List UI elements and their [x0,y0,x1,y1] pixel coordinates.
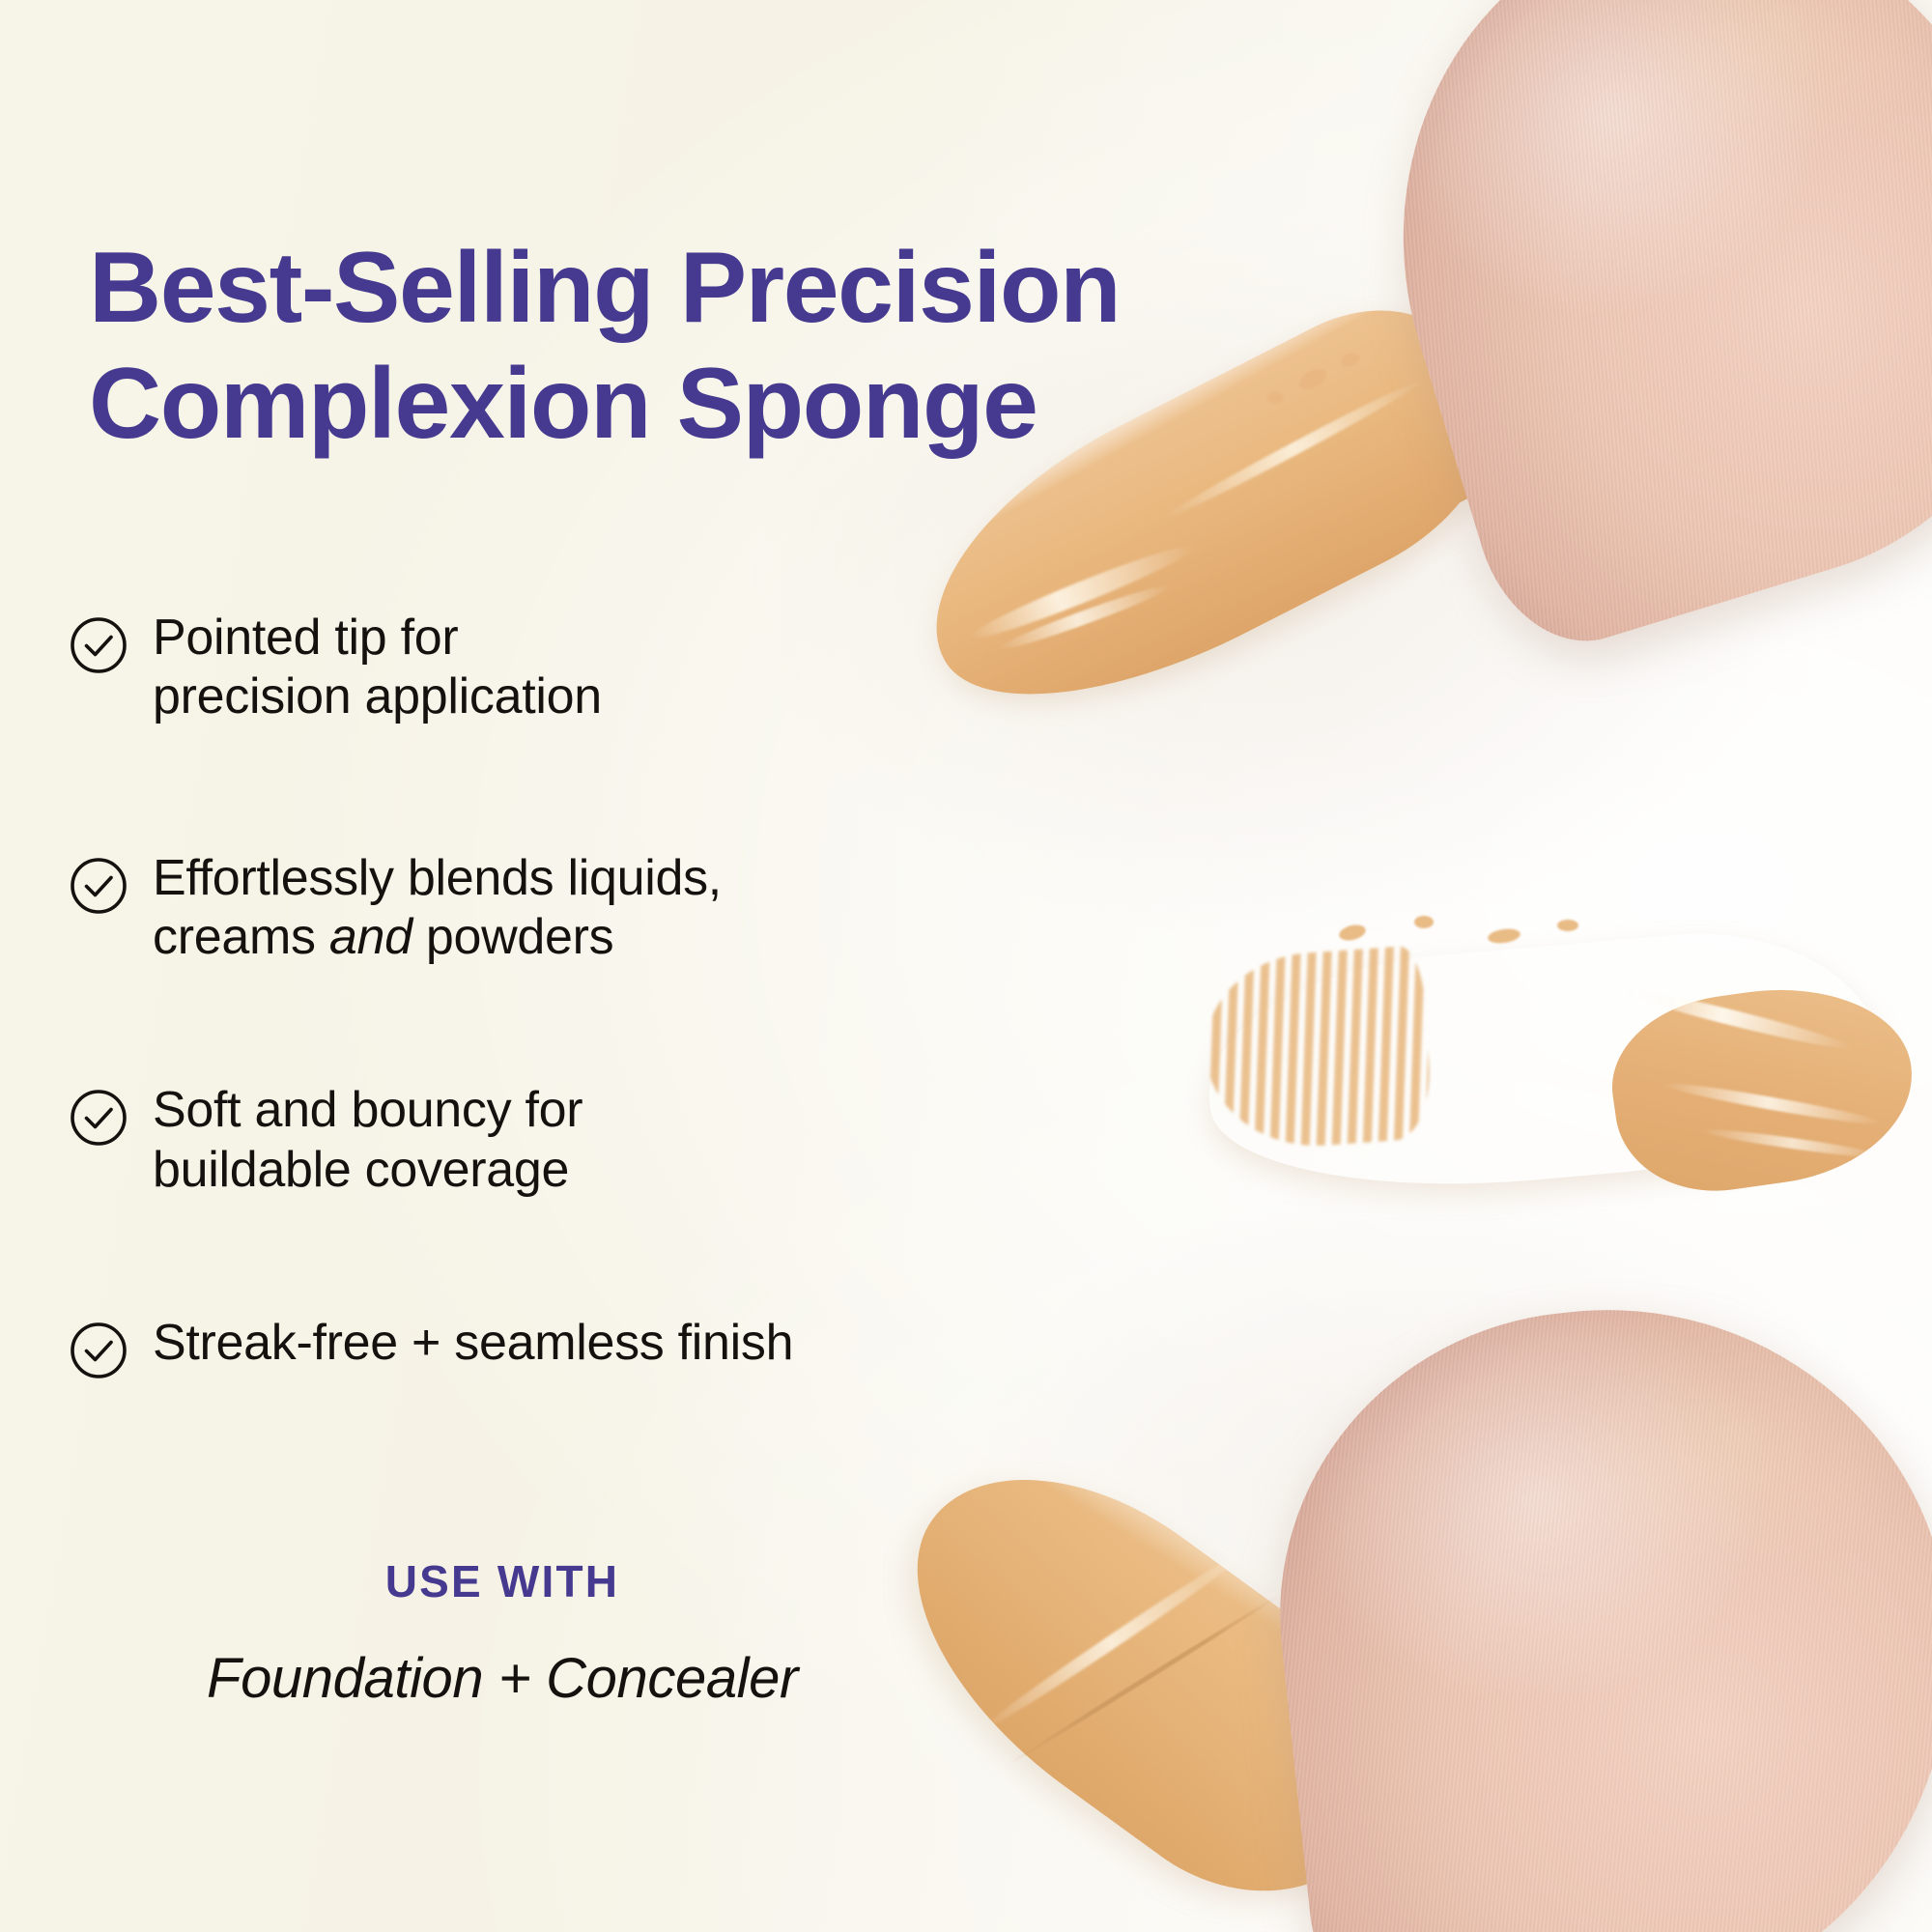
use-with-section: USE WITH Foundation + Concealer [68,1557,937,1711]
benefit-text: Effortlessly blends liquids, creams and … [153,849,722,968]
check-circle-icon [68,1320,129,1381]
list-item: Effortlessly blends liquids, creams and … [68,849,1053,968]
check-circle-icon [68,855,129,917]
page-title-line-1: Best-Selling Precision [89,230,1229,347]
benefit-text: Soft and bouncy for buildable coverage [153,1081,582,1200]
benefit-emphasis: and [329,909,412,965]
list-item: Pointed tip for precision application [68,609,1053,727]
benefit-line-2: precision application [153,668,602,724]
check-circle-icon [68,614,129,676]
benefit-line-1: Pointed tip for [153,610,458,666]
benefit-line-1: Soft and bouncy for [153,1082,582,1138]
benefit-line-1: Effortlessly blends liquids, [153,850,722,906]
benefit-list: Pointed tip for precision application Ef… [68,609,1053,1391]
list-item: Soft and bouncy for buildable coverage [68,1081,1053,1200]
benefit-text: Pointed tip for precision application [153,609,602,727]
benefit-line-2-tail: powders [412,909,614,965]
use-with-value: Foundation + Concealer [68,1647,937,1712]
list-item: Streak-free + seamless finish [68,1314,1053,1391]
benefit-text: Streak-free + seamless finish [153,1314,793,1373]
text-layer: Best-Selling Precision Complexion Sponge… [0,0,1932,1932]
page-title: Best-Selling Precision Complexion Sponge [89,230,1229,463]
use-with-label: USE WITH [68,1557,937,1606]
page-title-line-2: Complexion Sponge [89,346,1229,463]
benefit-line-2: buildable coverage [153,1142,569,1198]
benefit-line-1: Streak-free + seamless finish [153,1315,793,1371]
product-feature-card: Best-Selling Precision Complexion Sponge… [0,0,1932,1932]
benefit-line-2: creams [153,909,329,965]
check-circle-icon [68,1087,129,1149]
